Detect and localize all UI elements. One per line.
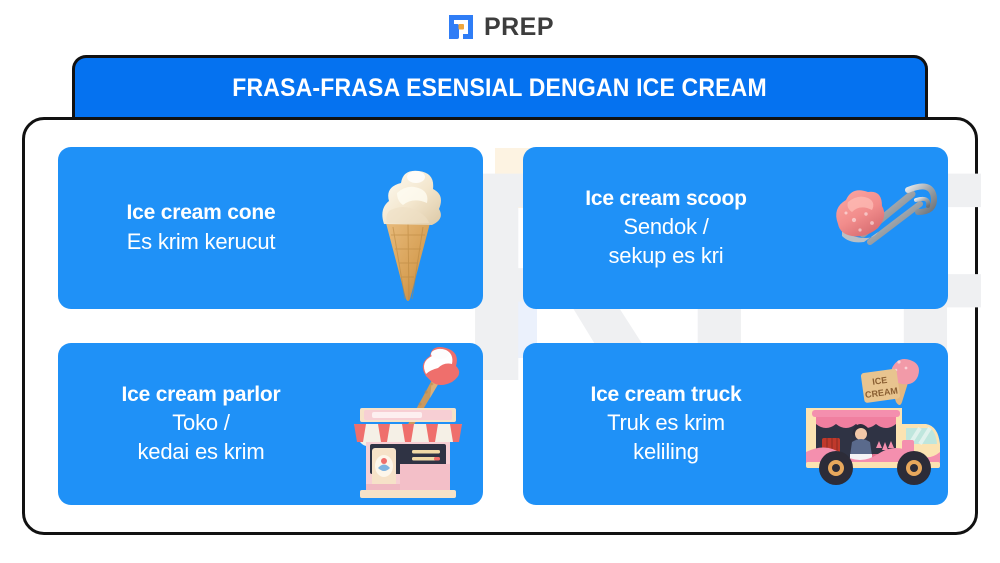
svg-text:ICE: ICE xyxy=(872,374,888,386)
phrase-card-ice-cream-parlor[interactable]: Ice cream parlor Toko / kedai es krim xyxy=(58,343,483,505)
card-text-block: Ice cream truck Truk es krim keliling xyxy=(523,382,795,467)
card-subtitle: Toko / kedai es krim xyxy=(72,408,330,466)
card-title: Ice cream scoop xyxy=(537,186,795,213)
card-text-block: Ice cream scoop Sendok / sekup es kri xyxy=(523,186,795,271)
ice-cream-scooper-icon xyxy=(798,147,948,309)
header-banner: FRASA-FRASA ESENSIAL DENGAN ICE CREAM xyxy=(72,55,928,118)
card-subtitle: Es krim kerucut xyxy=(72,227,330,256)
prep-logo-icon xyxy=(446,12,476,42)
ice-cream-truck-icon: ICE CREAM xyxy=(798,343,948,505)
phrase-card-grid: Ice cream cone Es krim kerucut xyxy=(25,120,981,538)
phrase-card-ice-cream-scoop[interactable]: Ice cream scoop Sendok / sekup es kri xyxy=(523,147,948,309)
brand-name: PREP xyxy=(484,15,554,40)
infographic-page: PREP FRASA-FRASA ESENSIAL DENGAN ICE CRE… xyxy=(0,0,1000,563)
ice-cream-parlor-icon xyxy=(333,343,483,505)
card-text-block: Ice cream cone Es krim kerucut xyxy=(58,200,330,256)
card-subtitle: Sendok / sekup es kri xyxy=(537,212,795,270)
brand-header: PREP xyxy=(0,12,1000,42)
phrase-card-ice-cream-cone[interactable]: Ice cream cone Es krim kerucut xyxy=(58,147,483,309)
soft-serve-cone-icon xyxy=(333,147,483,309)
card-title: Ice cream truck xyxy=(537,382,795,409)
phrase-card-ice-cream-truck[interactable]: Ice cream truck Truk es krim keliling xyxy=(523,343,948,505)
page-title: FRASA-FRASA ESENSIAL DENGAN ICE CREAM xyxy=(233,74,768,103)
card-title: Ice cream cone xyxy=(72,200,330,227)
card-subtitle: Truk es krim keliling xyxy=(537,408,795,466)
card-title: Ice cream parlor xyxy=(72,382,330,409)
card-text-block: Ice cream parlor Toko / kedai es krim xyxy=(58,382,330,467)
content-panel: REP Ice cream cone Es krim kerucut xyxy=(22,117,978,535)
